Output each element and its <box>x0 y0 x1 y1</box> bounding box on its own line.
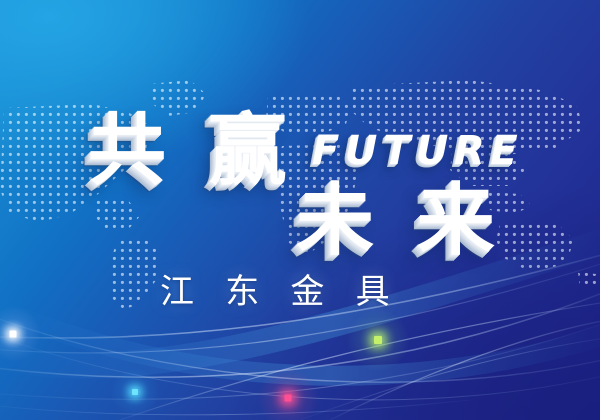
headline-cjk-gongying: 共 赢 <box>88 106 295 196</box>
headline-line-1: 共 赢 <box>88 112 295 190</box>
promo-banner: 共 赢 FUTURE 未 来 江 东 金 具 <box>0 0 600 420</box>
company-name-subtitle: 江 东 金 具 <box>160 272 400 312</box>
headline-cjk-weilai: 未 来 <box>296 176 503 266</box>
headline-line-2: 未 来 <box>296 182 503 260</box>
banner-copy: 共 赢 FUTURE 未 来 江 东 金 具 <box>0 0 600 420</box>
headline-latin-future: FUTURE <box>312 131 523 171</box>
